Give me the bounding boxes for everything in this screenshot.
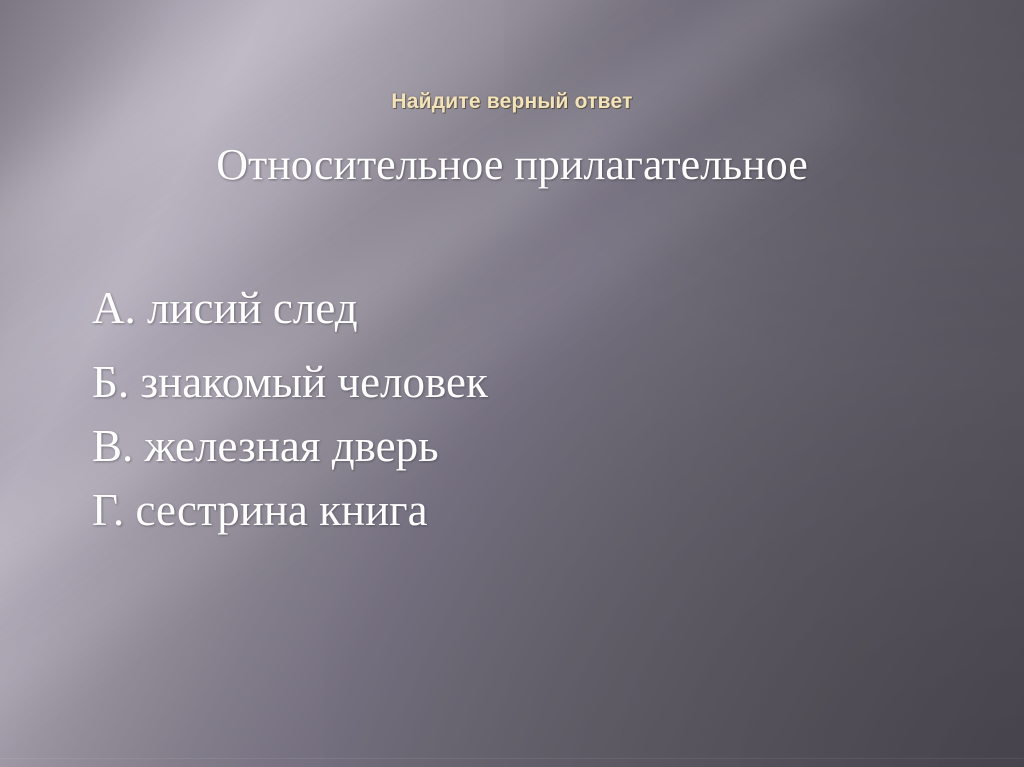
answer-option-b[interactable]: Б. знакомый человек: [92, 360, 932, 405]
answer-option-v[interactable]: В. железная дверь: [92, 424, 932, 469]
slide-title: Найдите верный ответ: [0, 90, 1024, 114]
answer-option-a[interactable]: А. лисий след: [92, 286, 932, 331]
presentation-slide: Найдите верный ответ Относительное прила…: [0, 0, 1024, 767]
answer-option-g[interactable]: Г. сестрина книга: [92, 488, 932, 533]
slide-bottom-edge-line: [0, 758, 1024, 759]
answer-options-list: А. лисий след Б. знакомый человек В. жел…: [92, 286, 932, 533]
slide-subtitle: Относительное прилагательное: [0, 142, 1024, 188]
